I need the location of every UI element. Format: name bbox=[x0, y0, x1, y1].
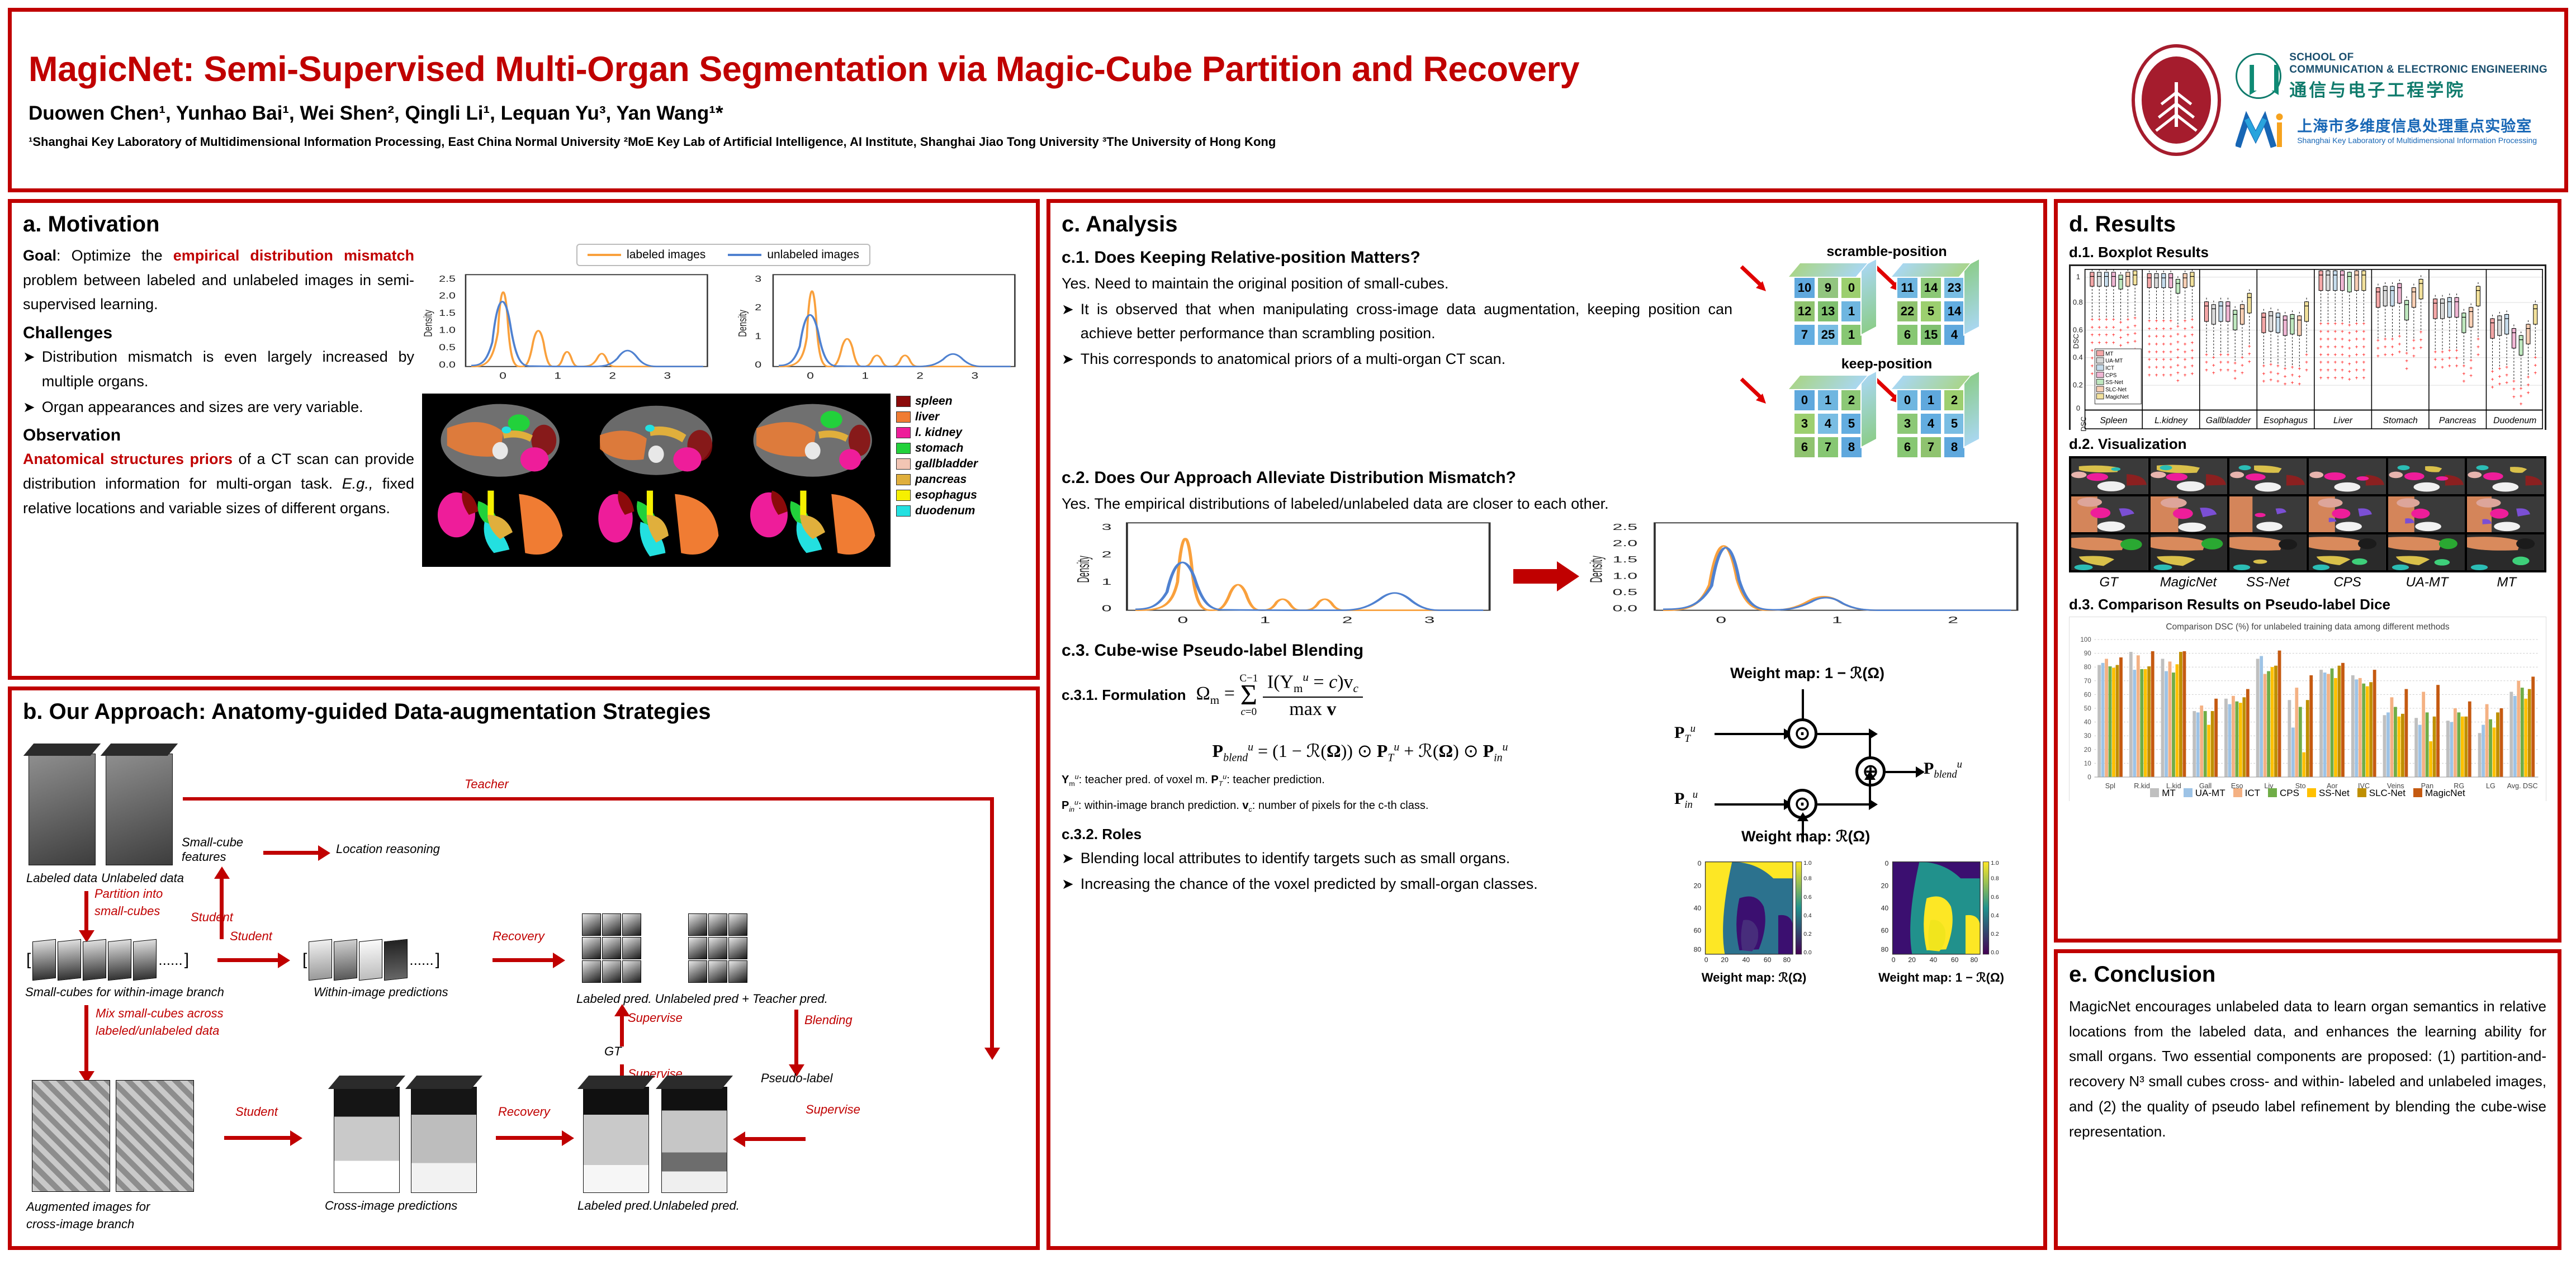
poster-body: a. Motivation Goal: Optimize the empiric… bbox=[8, 199, 2568, 1250]
vis-cell bbox=[2467, 496, 2544, 532]
svg-text:2.0: 2.0 bbox=[1612, 538, 1637, 548]
cube-cell: 6 bbox=[1896, 436, 1919, 458]
svg-text:CPS: CPS bbox=[2105, 372, 2117, 378]
svg-text:+: + bbox=[2355, 375, 2359, 381]
observation-highlight: Anatomical structures priors bbox=[23, 451, 233, 467]
label-cross-predictions: Cross-image predictions bbox=[325, 1199, 457, 1213]
vis-label-uamt: UA-MT bbox=[2387, 575, 2466, 590]
svg-text:Spleen: Spleen bbox=[2100, 416, 2127, 425]
svg-text:80: 80 bbox=[1694, 945, 1702, 953]
organ-label-gallbladder: gallbladder bbox=[915, 457, 978, 471]
svg-text:0: 0 bbox=[1704, 956, 1708, 964]
svg-text:1: 1 bbox=[2076, 273, 2080, 281]
arrow-recovery-cross bbox=[496, 1136, 563, 1140]
svg-text:+: + bbox=[2233, 376, 2237, 382]
svg-text:3: 3 bbox=[664, 371, 671, 381]
svg-text:0.2: 0.2 bbox=[1991, 931, 1999, 937]
bullet-arrow-icon: ➤ bbox=[23, 345, 35, 394]
school-cn-name: 通信与电子工程学院 bbox=[2289, 76, 2547, 101]
svg-text:1.5: 1.5 bbox=[1612, 555, 1637, 564]
svg-text:+: + bbox=[2169, 349, 2172, 356]
keep-cube-b: 0 1 2 3 4 5 6 7 8 bbox=[1896, 375, 1980, 458]
svg-text:+: + bbox=[2169, 365, 2172, 371]
vis-column-uamt bbox=[2388, 458, 2465, 570]
approach-title: b. Our Approach: Anatomy-guided Data-aug… bbox=[23, 699, 1025, 724]
svg-text:+: + bbox=[2291, 372, 2294, 378]
svg-text:+: + bbox=[2169, 372, 2172, 378]
label-labeled-data: Labeled data bbox=[26, 871, 97, 885]
svg-text:DSC: DSC bbox=[2080, 416, 2088, 432]
unlabeled-data-cube bbox=[106, 754, 173, 865]
svg-text:60: 60 bbox=[1881, 926, 1889, 934]
svg-text:1: 1 bbox=[554, 371, 561, 381]
cube-cell: 1 bbox=[1840, 324, 1863, 346]
svg-text:+: + bbox=[2176, 355, 2180, 361]
svg-text:+: + bbox=[2391, 344, 2394, 351]
supervise-arrow-up bbox=[620, 1015, 624, 1046]
svg-text:+: + bbox=[2463, 371, 2466, 377]
transition-arrow-icon bbox=[1513, 559, 1580, 593]
final-unlabeled-pred-cube bbox=[661, 1087, 727, 1193]
svg-text:+: + bbox=[2476, 352, 2480, 358]
c3-2-title: c.3.2. Roles bbox=[1062, 826, 1659, 843]
label-student-3: Student bbox=[235, 1105, 278, 1119]
c1-title: c.1. Does Keeping Relative-position Matt… bbox=[1062, 248, 1732, 267]
label-pin: Pinu bbox=[1674, 789, 1698, 811]
d3-bar-chart: Comparison DSC (%) for unlabeled trainin… bbox=[2069, 617, 2546, 801]
svg-text:+: + bbox=[2119, 328, 2123, 334]
label-weight-map-1: Weight map: 1 − ℛ(Ω) bbox=[1730, 665, 1884, 682]
svg-text:+: + bbox=[2184, 349, 2187, 356]
svg-text:+: + bbox=[2105, 333, 2108, 339]
organ-legend-item: esophagus bbox=[896, 489, 1025, 502]
bullet-arrow-icon: ➤ bbox=[1062, 872, 1074, 897]
label-partition: Partition into small-cubes bbox=[94, 885, 195, 920]
cube-cell: 3 bbox=[1896, 413, 1919, 435]
svg-text:+: + bbox=[2327, 321, 2330, 328]
svg-text:40: 40 bbox=[1930, 956, 1938, 964]
svg-text:+: + bbox=[2398, 342, 2401, 348]
page-title: MagicNet: Semi-Supervised Multi-Organ Se… bbox=[29, 51, 2117, 88]
svg-text:+: + bbox=[2205, 368, 2208, 374]
svg-text:0.0: 0.0 bbox=[1612, 604, 1637, 613]
svg-text:+: + bbox=[2476, 337, 2480, 343]
svg-text:+: + bbox=[2327, 375, 2330, 381]
organ-legend-item: duodenum bbox=[896, 504, 1025, 518]
svg-text:+: + bbox=[2348, 338, 2351, 344]
svg-text:+: + bbox=[2412, 346, 2416, 352]
svg-text:+: + bbox=[2097, 340, 2101, 347]
label-small-cube-features: Small-cube features bbox=[182, 835, 266, 864]
svg-text:+: + bbox=[2126, 333, 2129, 339]
svg-text:Liver: Liver bbox=[2333, 416, 2353, 425]
c3-role-1: ➤ Blending local attributes to identify … bbox=[1062, 846, 1659, 871]
svg-text:0.0: 0.0 bbox=[1991, 950, 1999, 956]
svg-text:+: + bbox=[2155, 319, 2158, 325]
svg-text:+: + bbox=[2162, 334, 2165, 340]
svg-text:0.0: 0.0 bbox=[439, 359, 456, 369]
svg-text:60: 60 bbox=[1694, 926, 1702, 934]
svg-text:0: 0 bbox=[2087, 773, 2091, 781]
vis-cell bbox=[2229, 458, 2307, 494]
svg-text:+: + bbox=[2469, 366, 2473, 372]
svg-text:+: + bbox=[2184, 342, 2187, 348]
svg-text:+: + bbox=[2419, 337, 2423, 343]
svg-text:20: 20 bbox=[1908, 956, 1916, 964]
svg-text:80: 80 bbox=[1881, 945, 1889, 953]
svg-text:+: + bbox=[2112, 340, 2115, 347]
svg-text:0.4: 0.4 bbox=[1803, 913, 1812, 919]
svg-text:+: + bbox=[2176, 332, 2180, 338]
c1-answer: Yes. Need to maintain the original posit… bbox=[1062, 272, 1732, 296]
svg-text:+: + bbox=[2262, 363, 2265, 370]
svg-text:+: + bbox=[2319, 375, 2323, 381]
organ-swatch-spleen bbox=[896, 396, 911, 407]
svg-text:+: + bbox=[2412, 353, 2416, 359]
svg-text:+: + bbox=[2362, 360, 2365, 366]
svg-text:+: + bbox=[2348, 330, 2351, 337]
svg-text:UA-MT: UA-MT bbox=[2105, 358, 2123, 364]
svg-text:+: + bbox=[2105, 317, 2108, 323]
svg-text:60: 60 bbox=[1951, 956, 1959, 964]
svg-text:+: + bbox=[2169, 319, 2172, 325]
challenge-item-2: ➤ Organ appearances and sizes are very v… bbox=[23, 395, 414, 420]
svg-text:20: 20 bbox=[1881, 882, 1889, 889]
vis-cell bbox=[2467, 458, 2544, 494]
svg-text:+: + bbox=[2348, 377, 2351, 383]
svg-text:1.0: 1.0 bbox=[439, 325, 456, 334]
cube-cell: 2 bbox=[1943, 389, 1966, 411]
organ-label-spleen: spleen bbox=[915, 395, 953, 408]
cube-cell: 14 bbox=[1920, 277, 1942, 299]
svg-text:+: + bbox=[2355, 368, 2359, 374]
svg-text:+: + bbox=[2441, 365, 2444, 371]
c3-role-2: ➤ Increasing the chance of the voxel pre… bbox=[1062, 872, 1659, 897]
d2-visualization-grid bbox=[2069, 456, 2546, 572]
svg-text:+: + bbox=[2512, 379, 2516, 385]
poster-header: MagicNet: Semi-Supervised Multi-Organ Se… bbox=[8, 8, 2568, 192]
svg-text:+: + bbox=[2348, 369, 2351, 375]
label-supervise-3: Supervise bbox=[806, 1102, 860, 1117]
label-within-predictions: Within-image predictions bbox=[314, 985, 448, 1000]
vis-cell bbox=[2388, 458, 2465, 494]
label-unlabeled-data: Unlabeled data bbox=[101, 871, 184, 885]
svg-text:+: + bbox=[2205, 360, 2208, 366]
small-cubes-list: [ ......] bbox=[26, 940, 189, 979]
svg-text:MagicNet: MagicNet bbox=[2105, 394, 2129, 400]
cube-cell: 9 bbox=[1817, 277, 1839, 299]
vis-cell bbox=[2151, 496, 2228, 532]
svg-text:+: + bbox=[2341, 368, 2344, 374]
d3-bar-legend: MTUA-MTICTCPSSS-NetSLC-NetMagicNet bbox=[2070, 788, 2546, 799]
cube-cell: 25 bbox=[1817, 324, 1839, 346]
svg-text:+: + bbox=[2155, 342, 2158, 348]
ct-scan-image-grid bbox=[422, 394, 891, 567]
svg-text:+: + bbox=[2463, 363, 2466, 370]
svg-text:20: 20 bbox=[1694, 882, 1702, 889]
svg-text:+: + bbox=[2148, 342, 2151, 348]
svg-text:Density: Density bbox=[1589, 556, 1606, 583]
svg-text:DSC: DSC bbox=[2072, 334, 2080, 349]
scramble-arrow-icon-1 bbox=[1739, 264, 1769, 295]
svg-text:+: + bbox=[2219, 368, 2223, 374]
label-student-2: Student bbox=[230, 929, 272, 944]
svg-text:0.0: 0.0 bbox=[1803, 950, 1812, 956]
svg-text:1.0: 1.0 bbox=[1612, 571, 1637, 580]
vis-cell bbox=[2309, 534, 2386, 570]
svg-text:Gallbladder: Gallbladder bbox=[2206, 416, 2251, 425]
svg-text:+: + bbox=[2341, 321, 2344, 328]
augmented-cube-1 bbox=[32, 1080, 110, 1192]
svg-text:+: + bbox=[2333, 329, 2337, 335]
svg-text:2.5: 2.5 bbox=[439, 274, 456, 283]
svg-text:+: + bbox=[2155, 357, 2158, 363]
svg-text:+: + bbox=[2319, 368, 2323, 374]
student-up-arrow bbox=[220, 878, 224, 939]
svg-text:+: + bbox=[2212, 371, 2215, 377]
challenge-text-1: Distribution mismatch is even largely in… bbox=[42, 345, 414, 394]
svg-text:+: + bbox=[2362, 321, 2365, 328]
svg-text:+: + bbox=[2520, 386, 2523, 392]
svg-text:+: + bbox=[2319, 360, 2323, 366]
vis-label-gt: GT bbox=[2069, 575, 2148, 590]
svg-text:+: + bbox=[2091, 371, 2094, 377]
svg-text:0.6: 0.6 bbox=[1991, 894, 1999, 901]
vis-cell bbox=[2071, 458, 2148, 494]
svg-text:+: + bbox=[2097, 325, 2101, 331]
svg-text:+: + bbox=[2512, 394, 2516, 400]
unlabeled-pred-grid bbox=[688, 913, 747, 983]
cube-cell: 23 bbox=[1943, 277, 1966, 299]
bullet-arrow-icon: ➤ bbox=[23, 395, 35, 420]
c2-title: c.2. Does Our Approach Alleviate Distrib… bbox=[1062, 468, 2032, 487]
bar-legend-item-slc-net: SLC-Net bbox=[2357, 788, 2405, 799]
svg-text:20: 20 bbox=[1721, 956, 1729, 964]
challenge-item-1: ➤ Distribution mismatch is even largely … bbox=[23, 345, 414, 394]
svg-text:2.5: 2.5 bbox=[1612, 522, 1637, 532]
svg-text:+: + bbox=[2491, 369, 2494, 375]
svg-text:+: + bbox=[2091, 348, 2094, 354]
svg-text:+: + bbox=[2362, 375, 2365, 381]
pin-up-arrow bbox=[1869, 779, 1871, 804]
arrow-recovery-within bbox=[493, 958, 554, 962]
svg-text:+: + bbox=[2155, 365, 2158, 371]
organ-swatch-gallbladder bbox=[896, 458, 911, 470]
svg-text:+: + bbox=[2148, 372, 2151, 378]
svg-text:+: + bbox=[2319, 337, 2323, 343]
svg-text:+: + bbox=[2191, 356, 2194, 362]
svg-text:+: + bbox=[2184, 334, 2187, 340]
legend-label-labeled: labeled images bbox=[627, 248, 705, 262]
d2-title: d.2. Visualization bbox=[2069, 435, 2546, 453]
svg-text:+: + bbox=[2491, 385, 2494, 391]
svg-text:+: + bbox=[2355, 360, 2359, 366]
svg-text:+: + bbox=[2176, 378, 2180, 384]
c1-bullet-text-2: This corresponds to anatomical priors of… bbox=[1081, 347, 1505, 372]
svg-text:+: + bbox=[2269, 370, 2272, 376]
svg-text:0: 0 bbox=[1885, 859, 1889, 867]
vis-cell bbox=[2151, 534, 2228, 570]
svg-text:+: + bbox=[2241, 371, 2244, 377]
svg-text:+: + bbox=[2398, 334, 2401, 340]
label-blending: Blending bbox=[804, 1013, 853, 1027]
svg-text:+: + bbox=[2205, 352, 2208, 358]
vis-cell bbox=[2229, 534, 2307, 570]
c1-bullet-text-1: It is observed that when manipulating cr… bbox=[1081, 297, 1732, 346]
panel-motivation: a. Motivation Goal: Optimize the empiric… bbox=[8, 199, 1040, 680]
svg-text:+: + bbox=[2391, 337, 2394, 343]
svg-text:+: + bbox=[2126, 317, 2129, 323]
label-labeled-unlabeled-pred: Labeled pred.Unlabeled pred. bbox=[577, 1199, 740, 1213]
svg-text:80: 80 bbox=[2084, 663, 2091, 671]
organ-legend-item: stomach bbox=[896, 442, 1025, 455]
vis-label-magicnet: MagicNet bbox=[2148, 575, 2228, 590]
svg-text:+: + bbox=[2212, 363, 2215, 369]
d3-title: d.3. Comparison Results on Pseudo-label … bbox=[2069, 596, 2546, 613]
svg-text:1: 1 bbox=[1260, 614, 1271, 624]
vis-cell bbox=[2467, 534, 2544, 570]
svg-text:0: 0 bbox=[807, 371, 814, 381]
cube-cell: 7 bbox=[1920, 436, 1942, 458]
ct-column-3 bbox=[735, 394, 891, 567]
svg-text:+: + bbox=[2162, 372, 2165, 378]
poster-root: MagicNet: Semi-Supervised Multi-Organ Se… bbox=[0, 0, 2576, 1288]
svg-text:+: + bbox=[2498, 366, 2501, 372]
vis-label-ssnet: SS-Net bbox=[2228, 575, 2308, 590]
svg-text:ICT: ICT bbox=[2105, 365, 2114, 371]
cube-cell: 6 bbox=[1793, 436, 1816, 458]
weight-map-plot-2: 0 20 40 60 80 bbox=[1850, 857, 2032, 985]
svg-text:0.5: 0.5 bbox=[1612, 588, 1637, 597]
column-right: d. Results d.1. Boxplot Results 1 0.8 0.… bbox=[2054, 199, 2561, 1250]
svg-text:+: + bbox=[2133, 323, 2137, 329]
svg-text:+: + bbox=[2169, 342, 2172, 348]
supervise-arrow-left bbox=[744, 1137, 806, 1141]
ct-figure-row: spleen liver l. kidney stomach gallbladd… bbox=[422, 394, 1025, 567]
motivation-text-block: Goal: Optimize the empirical distributio… bbox=[23, 244, 414, 567]
svg-text:+: + bbox=[2119, 335, 2123, 342]
svg-text:Duodenum: Duodenum bbox=[2493, 416, 2536, 425]
svg-text:+: + bbox=[2333, 321, 2337, 328]
svg-text:+: + bbox=[2176, 339, 2180, 345]
c2-density-after: 2.5 2.0 1.5 1.0 0.5 0.0 Density 0 1 2 bbox=[1589, 519, 2032, 633]
panel-analysis: c. Analysis c.1. Does Keeping Relative-p… bbox=[1046, 199, 2047, 1250]
organ-swatch-stomach bbox=[896, 443, 911, 454]
svg-text:+: + bbox=[2376, 338, 2380, 344]
label-weight-map-2: Weight map: ℛ(Ω) bbox=[1741, 828, 1870, 845]
organ-swatch-pancreas bbox=[896, 474, 911, 485]
svg-text:+: + bbox=[2184, 372, 2187, 378]
label-pt: PTu bbox=[1674, 723, 1696, 745]
density-plot-pair: 2.5 2.0 1.5 1.0 0.5 0.0 Density 0 1 2 bbox=[422, 271, 1025, 388]
legend-swatch-labeled bbox=[588, 254, 621, 256]
svg-text:+: + bbox=[2233, 368, 2237, 375]
svg-text:0.2: 0.2 bbox=[2073, 381, 2083, 389]
organ-swatch-duodenum bbox=[896, 505, 911, 517]
c1-cube-figures: scramble-position bbox=[1741, 244, 2032, 458]
svg-text:+: + bbox=[2105, 340, 2108, 347]
svg-text:+: + bbox=[2341, 360, 2344, 366]
legend-item-labeled: labeled images bbox=[588, 248, 705, 262]
svg-text:0: 0 bbox=[1177, 614, 1188, 624]
svg-text:+: + bbox=[2148, 349, 2151, 356]
svg-text:0.6: 0.6 bbox=[1803, 894, 1812, 901]
label-gt: GT bbox=[604, 1044, 622, 1059]
svg-text:+: + bbox=[2162, 365, 2165, 371]
organ-swatch-liver bbox=[896, 411, 911, 423]
svg-text:Density: Density bbox=[422, 310, 434, 337]
svg-text:+: + bbox=[2341, 375, 2344, 381]
svg-text:0.5: 0.5 bbox=[439, 342, 456, 352]
svg-text:+: + bbox=[2148, 334, 2151, 340]
observation-title: Observation bbox=[23, 426, 414, 445]
svg-text:+: + bbox=[2169, 326, 2172, 332]
svg-text:+: + bbox=[2419, 345, 2423, 351]
svg-text:0: 0 bbox=[2076, 404, 2080, 413]
svg-text:1: 1 bbox=[861, 371, 869, 381]
svg-text:+: + bbox=[2097, 333, 2101, 339]
label-teacher: Teacher bbox=[465, 777, 509, 792]
svg-text:+: + bbox=[2534, 371, 2537, 377]
vis-column-cps bbox=[2309, 458, 2386, 570]
vis-cell bbox=[2071, 534, 2148, 570]
svg-text:+: + bbox=[2348, 353, 2351, 359]
svg-text:+: + bbox=[2448, 363, 2451, 370]
panel-approach: b. Our Approach: Anatomy-guided Data-aug… bbox=[8, 686, 1040, 1250]
svg-text:+: + bbox=[2097, 317, 2101, 323]
svg-text:+: + bbox=[2184, 357, 2187, 363]
svg-text:+: + bbox=[2527, 382, 2530, 389]
svg-text:+: + bbox=[2319, 344, 2323, 351]
label-mix-cubes: Mix small-cubes across labeled/unlabeled… bbox=[96, 1005, 263, 1040]
svg-text:Density: Density bbox=[736, 310, 749, 337]
svg-text:+: + bbox=[2333, 375, 2337, 381]
svg-text:+: + bbox=[2176, 347, 2180, 353]
panel-results: d. Results d.1. Boxplot Results 1 0.8 0.… bbox=[2054, 199, 2561, 943]
svg-text:+: + bbox=[2398, 349, 2401, 356]
svg-text:0: 0 bbox=[1698, 859, 1702, 867]
svg-text:+: + bbox=[2126, 325, 2129, 331]
svg-text:+: + bbox=[2341, 337, 2344, 343]
goal-label: Goal bbox=[23, 247, 56, 264]
vis-column-gt bbox=[2071, 458, 2148, 570]
organ-swatch-esophagus bbox=[896, 490, 911, 501]
svg-text:SLC-Net: SLC-Net bbox=[2105, 387, 2127, 393]
c1-bullet-2: ➤ This corresponds to anatomical priors … bbox=[1062, 347, 1732, 372]
svg-text:2.0: 2.0 bbox=[439, 291, 456, 300]
svg-text:0: 0 bbox=[1102, 604, 1112, 613]
bar-legend-item-ua-mt: UA-MT bbox=[2184, 788, 2225, 799]
svg-text:+: + bbox=[2405, 351, 2408, 357]
svg-text:+: + bbox=[2184, 319, 2187, 325]
bar-legend-item-mt: MT bbox=[2150, 788, 2176, 799]
label-small-cubes-within: Small-cubes for within-image branch bbox=[25, 985, 224, 1000]
observation-eg: E.g., bbox=[342, 475, 373, 492]
svg-text:+: + bbox=[2405, 366, 2408, 372]
bar-legend-item-magicnet: MagicNet bbox=[2413, 788, 2465, 799]
d1-title: d.1. Boxplot Results bbox=[2069, 244, 2546, 261]
svg-text:40: 40 bbox=[1742, 956, 1750, 964]
svg-text:+: + bbox=[2362, 337, 2365, 343]
svg-text:+: + bbox=[2191, 363, 2194, 370]
c2-density-figures: 3 2 1 0 Density 0 1 2 3 bbox=[1062, 519, 2032, 633]
svg-text:0.4: 0.4 bbox=[1991, 913, 1999, 919]
svg-text:+: + bbox=[2333, 344, 2337, 351]
formula-blend: Pblendu = (1 − ℛ(Ω)) ⊙ PTu + ℛ(Ω) ⊙ Pinu bbox=[1062, 740, 1659, 764]
svg-text:+: + bbox=[2419, 330, 2423, 336]
svg-text:+: + bbox=[2520, 394, 2523, 400]
svg-text:1: 1 bbox=[1832, 614, 1843, 624]
